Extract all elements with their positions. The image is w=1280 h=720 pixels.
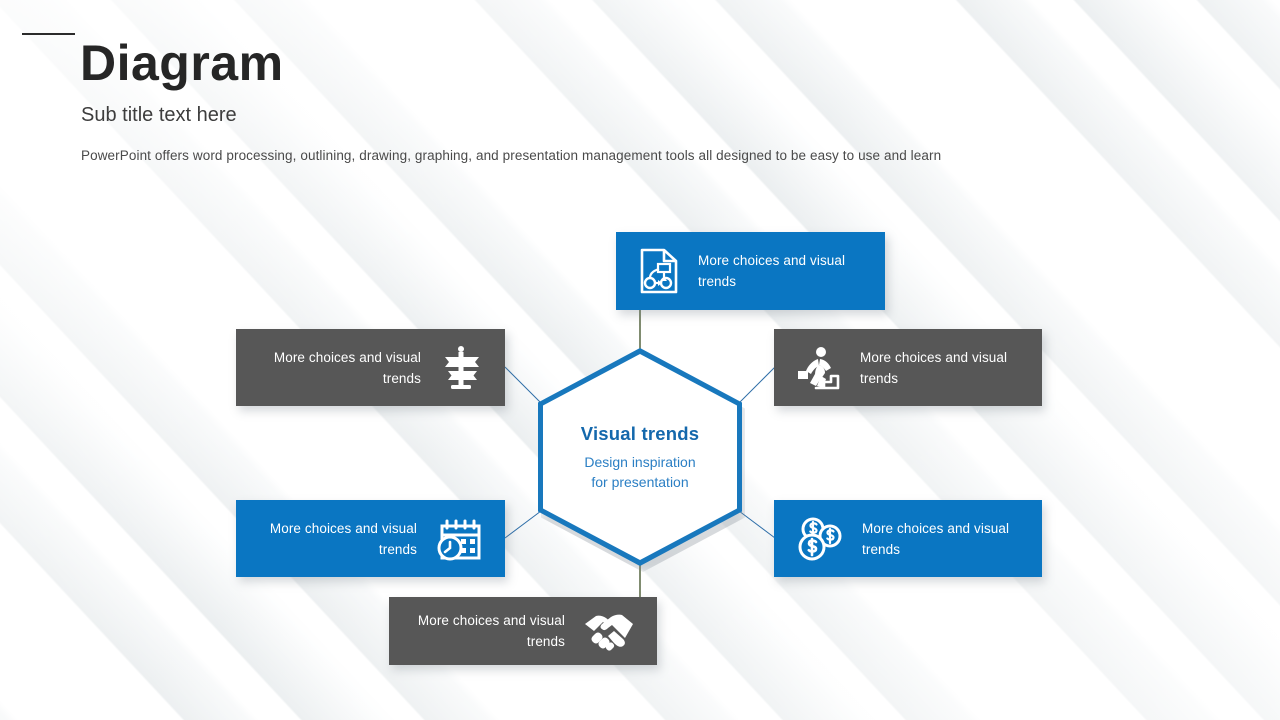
calendar-clock-icon	[435, 516, 483, 562]
center-hexagon[interactable]: Visual trends Design inspiration for pre…	[538, 348, 742, 566]
hexagon-subtitle-line2: for presentation	[591, 472, 688, 492]
card-right-lower-label-line1: More choices and visual	[862, 518, 1009, 539]
card-right-upper-label-line1: More choices and visual	[860, 347, 1007, 368]
card-right-upper[interactable]: More choices and visual trends	[774, 329, 1042, 406]
card-left-lower-label-line1: More choices and visual	[270, 518, 417, 539]
document-flowchart-icon	[638, 248, 680, 294]
connector-right-upper	[739, 367, 775, 403]
card-left-lower[interactable]: More choices and visual trends	[236, 500, 505, 577]
card-bottom-label-line2: trends	[418, 631, 565, 652]
person-climbing-stairs-icon	[796, 346, 842, 390]
card-right-upper-label-line2: trends	[860, 368, 1007, 389]
dollar-coins-icon	[796, 516, 844, 562]
card-top-label-line1: More choices and visual	[698, 250, 845, 271]
card-left-upper-label-line1: More choices and visual	[274, 347, 421, 368]
card-left-upper[interactable]: More choices and visual trends	[236, 329, 505, 406]
card-top[interactable]: More choices and visual trends	[616, 232, 885, 310]
card-bottom-label-line1: More choices and visual	[418, 610, 565, 631]
connector-left-upper	[505, 367, 541, 403]
card-right-lower[interactable]: More choices and visual trends	[774, 500, 1042, 577]
card-right-lower-label-line2: trends	[862, 539, 1009, 560]
card-left-upper-label-line2: trends	[274, 368, 421, 389]
hexagon-title: Visual trends	[581, 423, 699, 445]
connector-left-lower	[505, 511, 541, 538]
card-left-lower-label: More choices and visual trends	[270, 518, 417, 560]
card-bottom-label: More choices and visual trends	[418, 610, 565, 652]
card-left-upper-label: More choices and visual trends	[274, 347, 421, 389]
signpost-directions-icon	[439, 345, 483, 391]
handshake-icon	[583, 610, 635, 652]
slide-canvas: Diagram Sub title text here PowerPoint o…	[0, 0, 1280, 720]
card-top-label: More choices and visual trends	[698, 250, 845, 292]
card-top-label-line2: trends	[698, 271, 845, 292]
hexagon-subtitle-line1: Design inspiration	[584, 452, 695, 472]
card-left-lower-label-line2: trends	[270, 539, 417, 560]
card-right-lower-label: More choices and visual trends	[862, 518, 1009, 560]
card-bottom[interactable]: More choices and visual trends	[389, 597, 657, 665]
card-right-upper-label: More choices and visual trends	[860, 347, 1007, 389]
